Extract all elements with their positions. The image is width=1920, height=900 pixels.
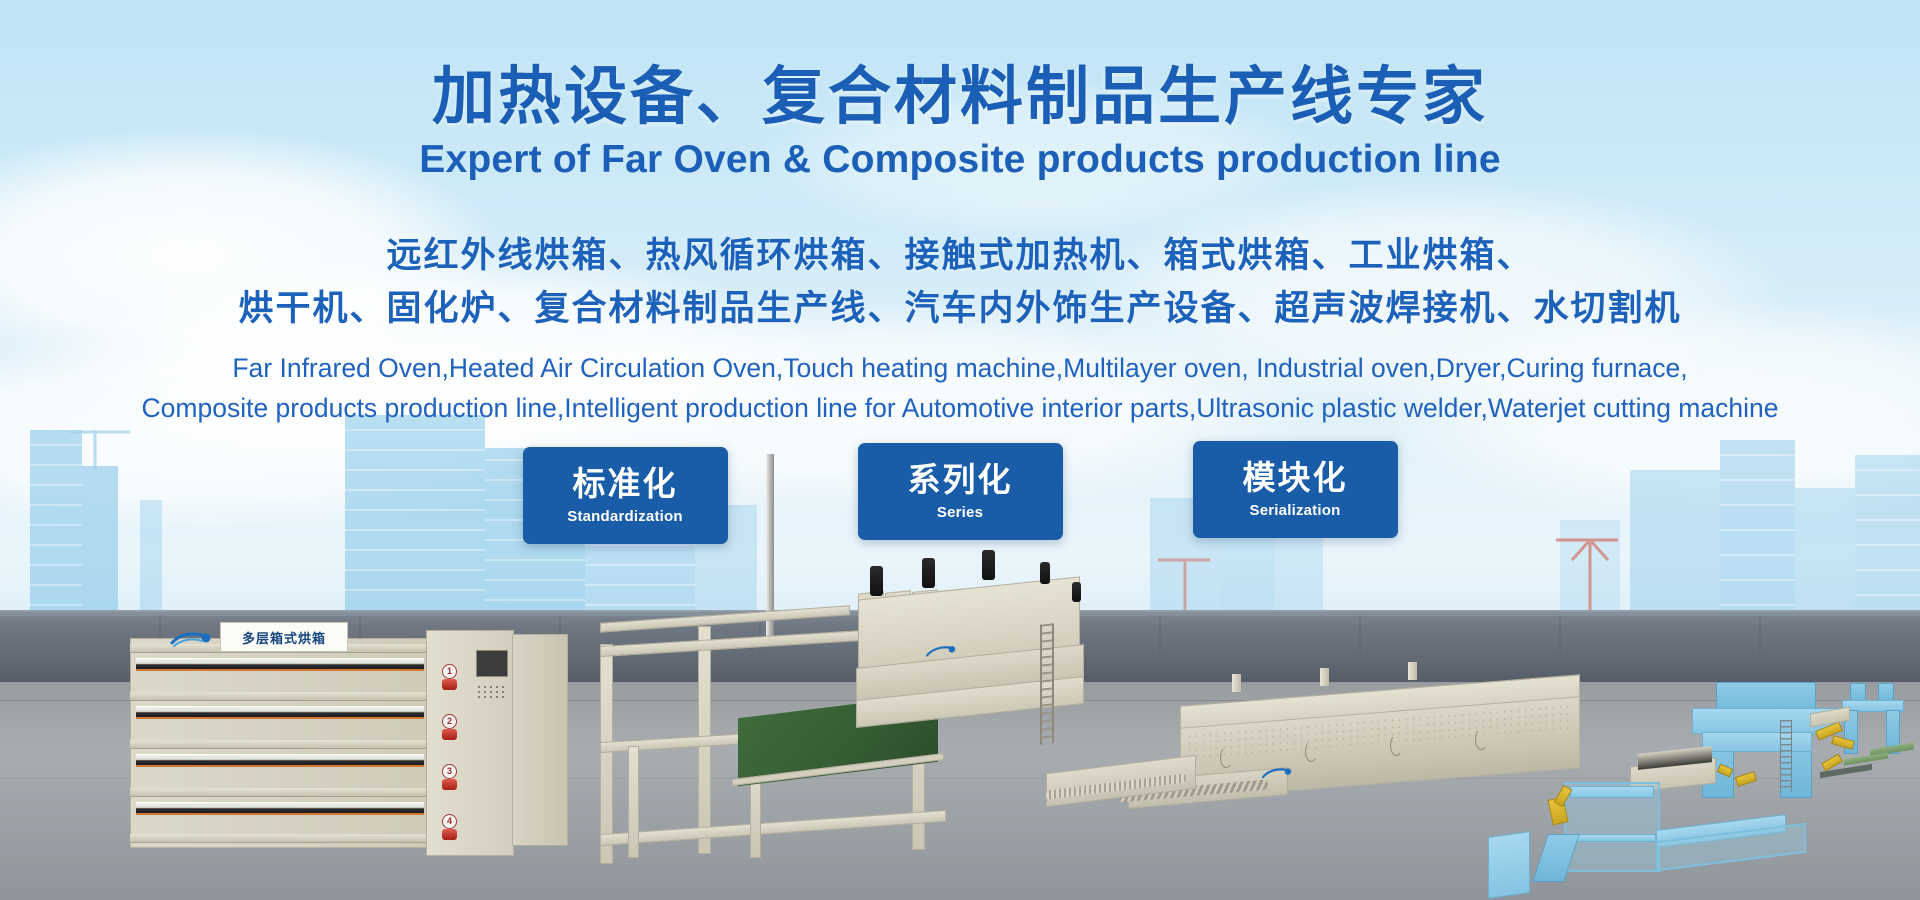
subtitle-cn-line-2: 烘干机、固化炉、复合材料制品生产线、汽车内外饰生产设备、超声波焊接机、水切割机: [0, 283, 1920, 336]
oven-indicator-number: 2: [442, 714, 457, 729]
company-logo-icon: [168, 629, 214, 651]
oven-indicator-number: 3: [442, 764, 457, 779]
robot-arm: [1735, 771, 1757, 787]
tunnel-stack: [1408, 662, 1417, 680]
company-logo-icon: [1260, 765, 1294, 784]
oven-display-screen[interactable]: [476, 650, 508, 677]
oven-indicator-2[interactable]: 2: [440, 714, 466, 744]
press-access-ladder: [1040, 623, 1054, 744]
badge-standardization[interactable]: 标准化 Standardization: [523, 447, 728, 544]
badge-series[interactable]: 系列化 Series: [858, 443, 1063, 540]
page-title-en: Expert of Far Oven & Composite products …: [0, 137, 1920, 184]
composite-press-machine: [600, 574, 1180, 900]
tunnel-stack: [1232, 674, 1241, 692]
oven-indicator-knob[interactable]: [442, 729, 457, 740]
oven-indicator-3[interactable]: 3: [440, 764, 466, 794]
oven-base-rail: [130, 834, 432, 843]
oven-indicator-number: 1: [442, 664, 457, 679]
blue-structure-rail: [1568, 834, 1656, 842]
oven-rail: [130, 692, 432, 701]
badge-label-cn: 系列化: [908, 462, 1013, 498]
subtitle-en-block: Far Infrared Oven,Heated Air Circulation…: [0, 348, 1920, 429]
oven-rear-cabinet: [512, 634, 568, 846]
product-strip: [1844, 753, 1888, 766]
oven-indicator-4[interactable]: 4: [440, 814, 466, 844]
oven-indicator-number: 4: [442, 814, 457, 829]
badge-label-en: Standardization: [567, 508, 683, 525]
subtitle-en-line-1: Far Infrared Oven,Heated Air Circulation…: [0, 348, 1920, 388]
badge-label-cn: 标准化: [573, 466, 678, 502]
blue-structure-deck: [1570, 786, 1654, 798]
subtitle-cn-block: 远红外线烘箱、热风循环烘箱、接触式加热机、箱式烘箱、工业烘箱、 烘干机、固化炉、…: [0, 230, 1920, 335]
oven-shelf: [136, 802, 424, 813]
press-frame-post: [628, 746, 639, 858]
oven-vent-grid: [478, 686, 508, 700]
badge-label-en: Serialization: [1250, 502, 1341, 519]
oven-nameplate: 多层箱式烘箱: [220, 622, 348, 652]
oven-indicator-knob[interactable]: [442, 779, 457, 790]
badge-serialization[interactable]: 模块化 Serialization: [1193, 441, 1398, 538]
press-cylinder: [982, 550, 995, 580]
blue-control-box: [1488, 831, 1530, 899]
oven-shelf: [136, 706, 424, 717]
page-title-cn: 加热设备、复合材料制品生产线专家: [0, 62, 1920, 133]
oven-shelf: [136, 754, 424, 765]
tunnel-stack: [1320, 668, 1329, 686]
multilayer-oven-machine: 1 2 3 4 多层箱式烘箱: [130, 628, 550, 866]
subtitle-cn-line-1: 远红外线烘箱、热风循环烘箱、接触式加热机、箱式烘箱、工业烘箱、: [0, 230, 1920, 283]
press-frame-rail: [600, 605, 850, 632]
badge-label-cn: 模块化: [1243, 460, 1348, 496]
oven-indicator-knob[interactable]: [442, 679, 457, 690]
oven-indicator-1[interactable]: 1: [440, 664, 466, 694]
hero-banner: 加热设备、复合材料制品生产线专家 Expert of Far Oven & Co…: [0, 0, 1920, 900]
blue-production-line: [1480, 638, 1920, 898]
oven-rail: [130, 788, 432, 797]
press-frame-base: [600, 810, 946, 846]
press-cylinder: [1072, 582, 1081, 602]
oven-nameplate-text: 多层箱式烘箱: [242, 628, 326, 647]
badge-label-en: Series: [937, 504, 983, 521]
oven-shelf: [136, 658, 424, 669]
oven-indicator-knob[interactable]: [442, 829, 457, 840]
subtitle-en-line-2: Composite products production line,Intel…: [0, 388, 1920, 428]
press-frame-post: [600, 644, 613, 864]
press-cylinder: [922, 558, 935, 588]
feature-badge-group: 标准化 Standardization 系列化 Series 模块化 Seria…: [0, 447, 1920, 544]
blue-press-crossbeam: [1702, 732, 1812, 752]
headline-block: 加热设备、复合材料制品生产线专家 Expert of Far Oven & Co…: [0, 62, 1920, 183]
blue-line-ladder: [1780, 720, 1792, 792]
press-cylinder: [1040, 562, 1050, 584]
oven-rail: [130, 740, 432, 749]
press-cylinder: [870, 566, 883, 596]
